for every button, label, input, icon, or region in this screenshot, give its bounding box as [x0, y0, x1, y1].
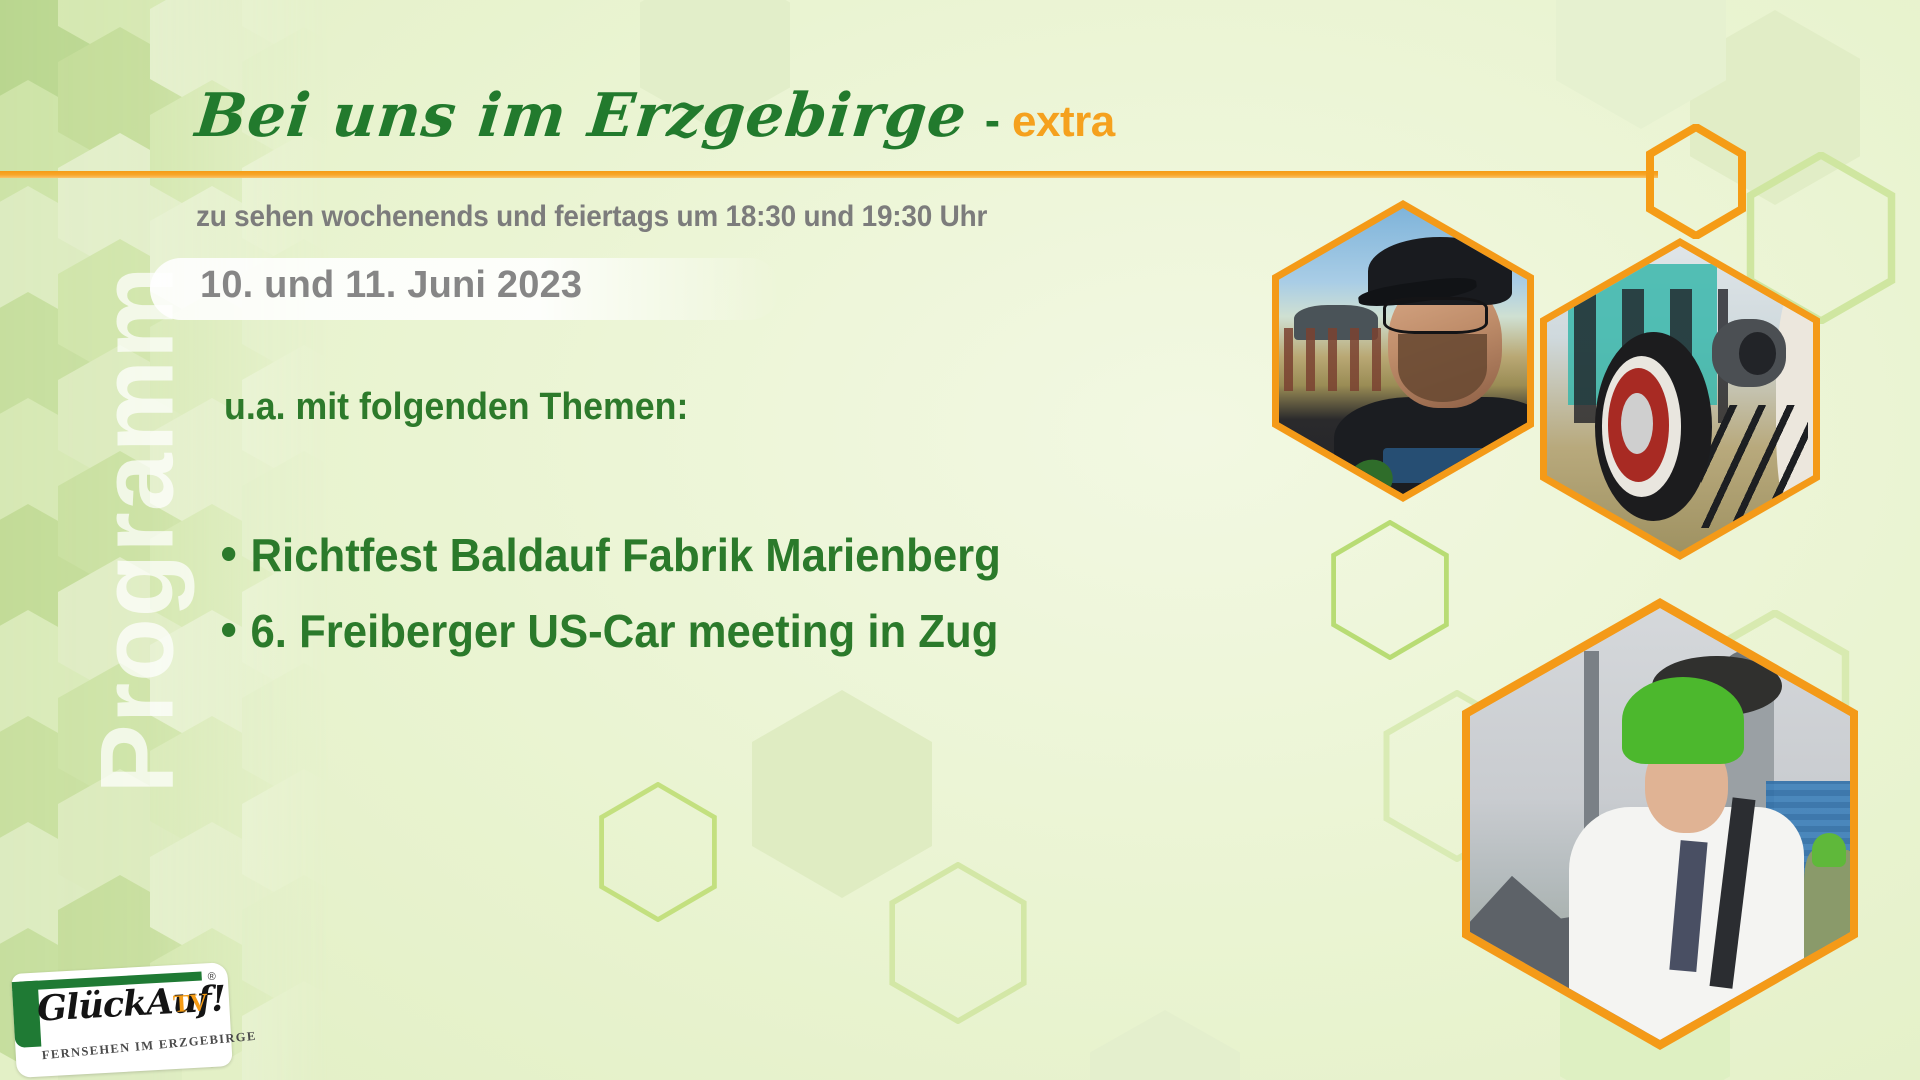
broadcast-times-subtitle: zu sehen wochenends und feiertags um 18:… — [196, 200, 987, 234]
bg-hexagon — [752, 690, 932, 898]
bg-hexagon — [242, 663, 366, 803]
bullet-dot-icon — [222, 623, 235, 637]
list-item: Richtfest Baldauf Fabrik Marienberg — [222, 528, 1001, 582]
broadcast-date: 10. und 11. Juni 2023 — [200, 264, 582, 307]
list-item: 6. Freiberger US-Car meeting in Zug — [222, 604, 1001, 658]
logo-tv-text: TV — [172, 989, 208, 1019]
title-extra-text: extra — [1012, 100, 1115, 144]
bg-hexagon — [58, 27, 182, 167]
rule-end-hexagon-icon — [1646, 124, 1746, 224]
list-item-label: 6. Freiberger US-Car meeting in Zug — [251, 604, 999, 658]
bg-hexagon — [58, 0, 182, 61]
logo-registered-mark: ® — [207, 971, 216, 983]
title-dash: - — [985, 97, 1000, 143]
bg-hexagon — [1090, 1010, 1240, 1080]
channel-logo[interactable]: GlückAuf! TV ® FERNSEHEN IM ERZGEBIRGE — [11, 962, 232, 1078]
bg-hexagon — [0, 292, 90, 432]
page-title: Bei uns im Erzgebirge - extra — [196, 86, 1115, 146]
bg-hexagon — [0, 0, 90, 114]
bg-hexagon — [242, 981, 366, 1080]
bg-hexagon-outline — [1330, 520, 1450, 660]
bg-hexagon — [242, 875, 366, 1015]
bg-hexagon — [0, 398, 90, 538]
list-item-label: Richtfest Baldauf Fabrik Marienberg — [251, 528, 1001, 582]
photo-man-green-helmet — [1470, 608, 1850, 1040]
bg-hexagon — [242, 769, 366, 909]
bg-hexagon-outline — [888, 862, 1028, 1024]
bg-hexagon — [0, 822, 90, 962]
title-underline-rule — [0, 171, 1658, 178]
themes-heading: u.a. mit folgenden Themen: — [224, 386, 688, 429]
bg-hexagon — [242, 0, 366, 61]
bg-hexagon — [1556, 0, 1726, 129]
bg-hexagon — [0, 716, 90, 856]
bullet-dot-icon — [222, 547, 235, 561]
title-script-text: Bei uns im Erzgebirge — [193, 86, 970, 146]
bg-hexagon-outline — [598, 782, 718, 922]
poster-canvas: Programm Bei uns im Erzgebirge - extra z… — [0, 0, 1920, 1080]
bg-hexagon — [0, 504, 90, 644]
topics-list: Richtfest Baldauf Fabrik Marienberg 6. F… — [222, 528, 1042, 680]
bg-hexagon — [0, 80, 90, 220]
bg-hexagon — [0, 610, 90, 750]
bg-hexagon — [0, 186, 90, 326]
